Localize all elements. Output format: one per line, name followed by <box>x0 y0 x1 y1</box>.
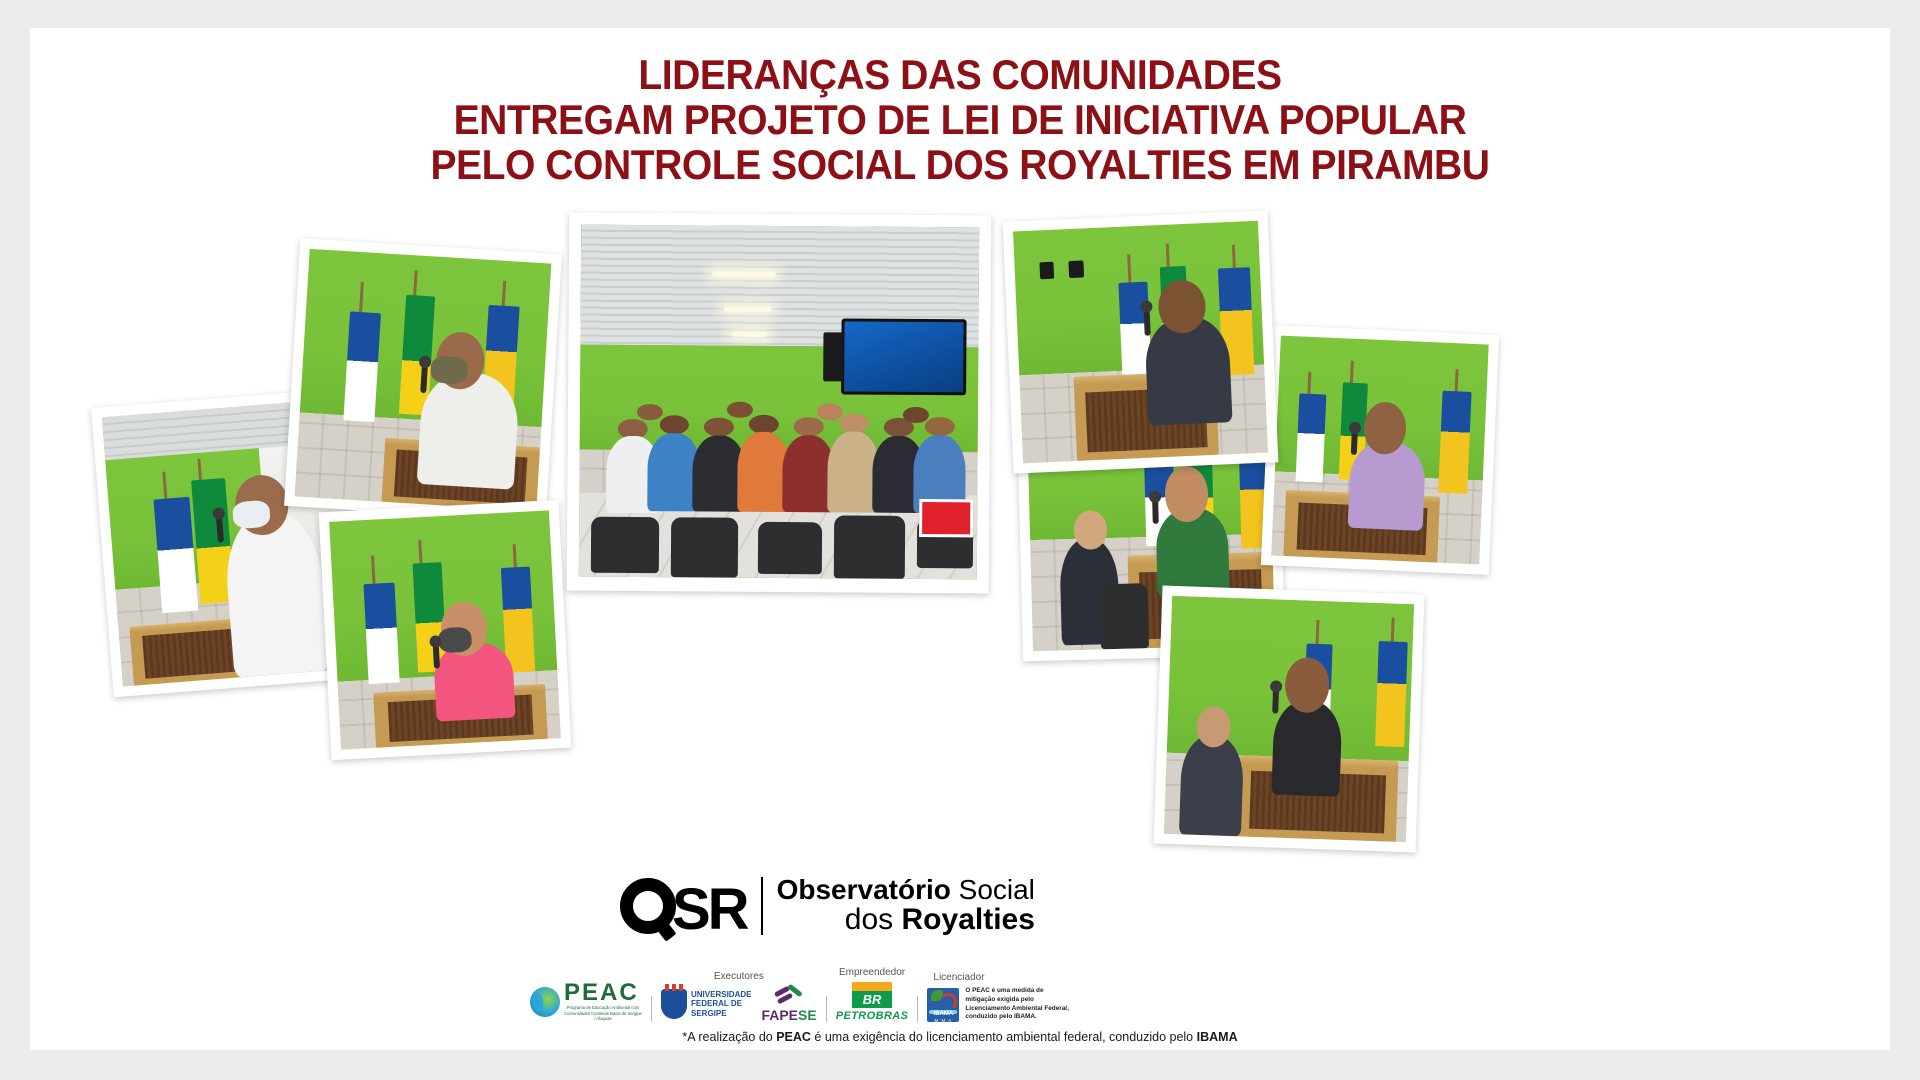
peac-name: PEAC <box>564 981 642 1005</box>
ufs-shield-icon <box>661 989 687 1019</box>
photo-image <box>1164 596 1414 842</box>
photo-man-lilac-shirt-podium[interactable] <box>1261 325 1499 575</box>
br-icon: BR <box>852 982 892 1008</box>
poster-canvas: LIDERANÇAS DAS COMUNIDADES ENTREGAM PROJ… <box>30 28 1890 1050</box>
ufs-line-1: UNIVERSIDADE <box>691 990 751 999</box>
peac-icon <box>530 987 560 1017</box>
photo-woman-black-top-podium[interactable] <box>1154 586 1425 853</box>
photo-image <box>1271 336 1488 565</box>
photo-woman-pink-shirt-podium[interactable] <box>319 500 572 760</box>
poster-stage: LIDERANÇAS DAS COMUNIDADES ENTREGAM PROJ… <box>0 0 1920 1080</box>
ufs-line-2: FEDERAL DE <box>691 999 751 1008</box>
fapese-icon <box>774 986 804 1008</box>
magnifier-q-icon <box>620 878 676 934</box>
footer-bold-ibama: IBAMA <box>1197 1030 1238 1044</box>
photo-image <box>579 225 979 580</box>
ibama-icon-sub: M M A <box>927 1018 959 1023</box>
ibama-icon-name: IBAMA <box>927 1011 959 1017</box>
sponsor-divider <box>917 996 918 1022</box>
executores-caption: Executores <box>714 971 764 982</box>
osr-wordmark-line-1: Observatório Social <box>777 876 1035 904</box>
sponsor-divider <box>651 996 652 1022</box>
fapese-logo: FAPESE <box>761 986 816 1022</box>
ufs-text: UNIVERSIDADE FEDERAL DE SERGIPE <box>691 990 751 1018</box>
footer-bold-peac: PEAC <box>776 1030 811 1044</box>
osr-wordmark-line-2: dos Royalties <box>777 905 1035 935</box>
photo-image <box>295 249 552 511</box>
licenciador-caption: Licenciador <box>933 972 984 983</box>
ufs-logo: UNIVERSIDADE FEDERAL DE SERGIPE <box>661 989 751 1019</box>
osr-logomark: SR <box>620 878 747 934</box>
sponsor-licenciador: Licenciador IBAMA M M A O PEAC é uma med… <box>927 972 1073 1022</box>
empreendedor-caption: Empreendedor <box>839 967 905 978</box>
logo-divider <box>761 877 763 935</box>
peac-logo: PEAC Programa de Educação Ambiental com … <box>530 981 642 1022</box>
sponsor-empreendedor: Empreendedor BR PETROBRAS <box>836 967 909 1022</box>
petrobras-name: PETROBRAS <box>836 1010 909 1022</box>
photo-man-suit-podium[interactable] <box>1003 210 1279 473</box>
osr-logo: SR Observatório Social dos Royalties <box>620 876 1035 935</box>
sponsor-peac: PEAC Programa de Educação Ambiental com … <box>530 966 642 1022</box>
photo-group-main[interactable] <box>567 213 992 594</box>
executores-logos: UNIVERSIDADE FEDERAL DE SERGIPE FAPESE <box>661 986 817 1022</box>
ibama-block: IBAMA M M A O PEAC é uma medida de mitig… <box>927 987 1073 1022</box>
ibama-icon: IBAMA M M A <box>927 988 959 1022</box>
sponsor-bar: PEAC Programa de Educação Ambiental com … <box>530 966 1073 1022</box>
footer-middle: é uma exigência do licenciamento ambient… <box>811 1030 1197 1044</box>
ufs-line-3: SERGIPE <box>691 1009 751 1018</box>
osr-wordmark: Observatório Social dos Royalties <box>777 876 1035 935</box>
footer-prefix: *A realização do <box>682 1030 776 1044</box>
photo-image <box>329 510 561 749</box>
photo-man-printed-shirt-podium[interactable] <box>284 238 562 521</box>
peac-text: PEAC Programa de Educação Ambiental com … <box>564 981 642 1022</box>
sponsor-divider <box>826 996 827 1022</box>
petrobras-logo: BR PETROBRAS <box>836 982 909 1022</box>
ibama-disclaimer: O PEAC é uma medida de mitigação exigida… <box>965 987 1073 1022</box>
fapese-name: FAPESE <box>761 1008 816 1022</box>
sponsor-executores: Executores UNIVERSIDADE FEDERAL DE SERGI… <box>661 971 817 1022</box>
br-icon-label: BR <box>852 991 892 1008</box>
footer-note: *A realização do PEAC é uma exigência do… <box>30 1030 1890 1044</box>
photo-image <box>1013 221 1268 463</box>
peac-caption-spacer <box>585 966 588 977</box>
osr-logomark-letters: SR <box>672 887 747 933</box>
peac-subtitle: Programa de Educação Ambiental com Comun… <box>564 1005 642 1022</box>
